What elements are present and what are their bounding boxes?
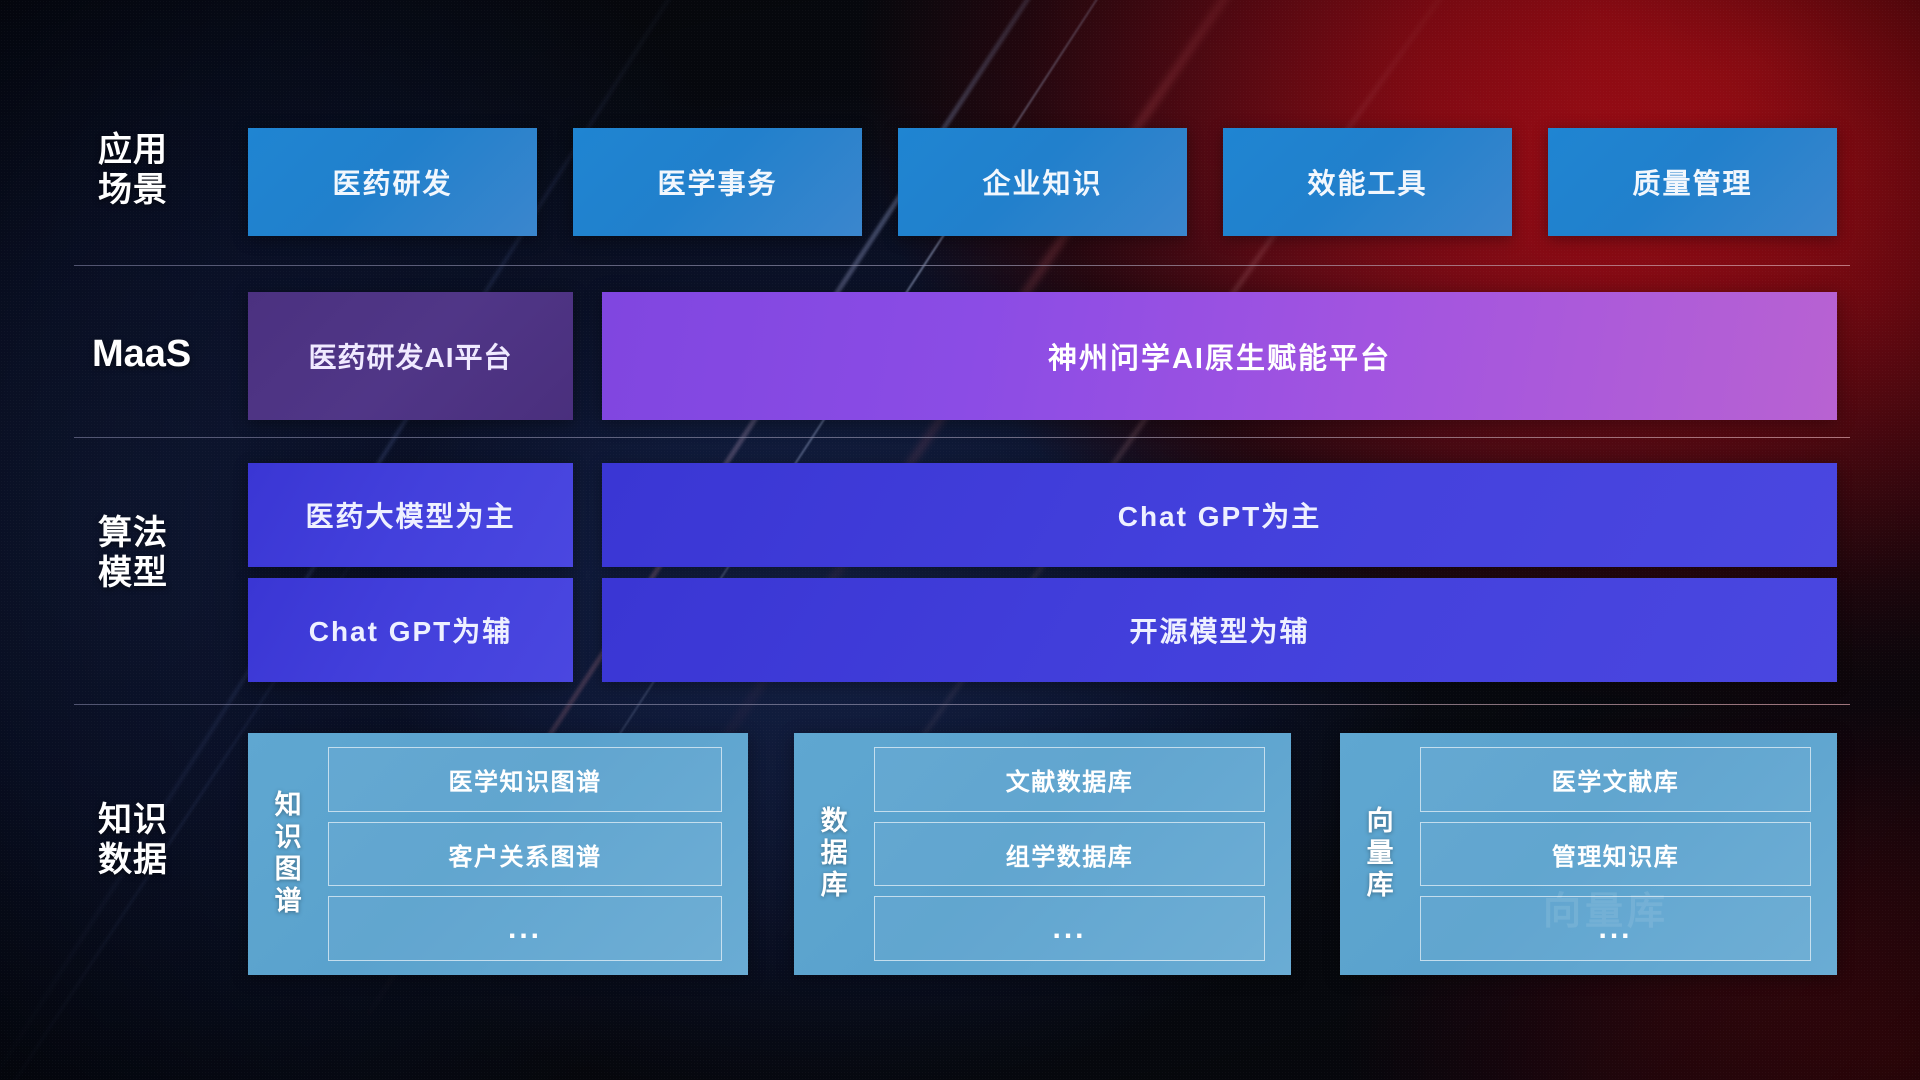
- knowledge-item[interactable]: 医学文献库: [1420, 747, 1811, 812]
- knowledge-item-more[interactable]: ...: [874, 896, 1265, 961]
- knowledge-item-label: 医学文献库: [1552, 762, 1680, 797]
- knowledge-panel-vertical-label: 向量库: [1340, 806, 1414, 902]
- knowledge-item[interactable]: 医学知识图谱: [328, 747, 722, 812]
- row-label-line: MaaS: [92, 332, 191, 377]
- app-box-efficiency-tools[interactable]: 效能工具: [1223, 128, 1512, 236]
- knowledge-item-label: 客户关系图谱: [449, 837, 602, 872]
- algo-box-label: Chat GPT为主: [1118, 495, 1322, 535]
- row-label-line: 模型: [98, 553, 168, 593]
- algo-box-label: 开源模型为辅: [1129, 610, 1309, 650]
- app-box-label: 质量管理: [1632, 162, 1752, 202]
- app-box-pharma-rd[interactable]: 医药研发: [248, 128, 537, 236]
- knowledge-panel-vector-store[interactable]: 向量库 医学文献库 管理知识库 ...: [1340, 733, 1837, 975]
- algo-box-chatgpt-secondary[interactable]: Chat GPT为辅: [248, 578, 573, 682]
- knowledge-item[interactable]: 客户关系图谱: [328, 822, 722, 887]
- knowledge-item-label: 管理知识库: [1552, 837, 1680, 872]
- app-box-quality-management[interactable]: 质量管理: [1548, 128, 1837, 236]
- maas-box-label: 神州问学AI原生赋能平台: [1048, 335, 1391, 377]
- algo-box-chatgpt-primary[interactable]: Chat GPT为主: [602, 463, 1837, 567]
- app-box-label: 效能工具: [1307, 162, 1427, 202]
- knowledge-panel-knowledge-graph[interactable]: 知识图谱 医学知识图谱 客户关系图谱 ...: [248, 733, 748, 975]
- knowledge-item-label: ...: [1052, 912, 1086, 946]
- row-label-line: 应用: [98, 130, 168, 170]
- knowledge-item[interactable]: 管理知识库: [1420, 822, 1811, 887]
- row-label-line: 算法: [98, 513, 168, 553]
- knowledge-item-label: 组学数据库: [1006, 837, 1134, 872]
- knowledge-panel-database[interactable]: 数据库 文献数据库 组学数据库 ...: [794, 733, 1291, 975]
- row-label-algorithm-models: 算法 模型: [98, 513, 168, 593]
- app-box-label: 医学事务: [657, 162, 777, 202]
- knowledge-item-more[interactable]: ...: [328, 896, 722, 961]
- knowledge-panel-vertical-label: 知识图谱: [248, 790, 322, 918]
- algo-box-label: Chat GPT为辅: [309, 610, 513, 650]
- row-label-application-scenarios: 应用 场景: [98, 130, 168, 210]
- app-box-label: 企业知识: [982, 162, 1102, 202]
- knowledge-item[interactable]: 文献数据库: [874, 747, 1265, 812]
- divider-maas-algorithm: [74, 437, 1850, 438]
- maas-box-pharma-ai-platform[interactable]: 医药研发AI平台: [248, 292, 573, 420]
- row-label-line: 场景: [98, 170, 168, 210]
- divider-algorithm-knowledge: [74, 704, 1850, 705]
- app-box-medical-affairs[interactable]: 医学事务: [573, 128, 862, 236]
- knowledge-item-label: ...: [508, 912, 542, 946]
- algo-box-opensource-secondary[interactable]: 开源模型为辅: [602, 578, 1837, 682]
- knowledge-item-label: 医学知识图谱: [449, 762, 602, 797]
- knowledge-item-label: 文献数据库: [1006, 762, 1134, 797]
- row-label-maas: MaaS: [92, 332, 191, 377]
- knowledge-item-more[interactable]: ...: [1420, 896, 1811, 961]
- algo-box-pharma-llm-primary[interactable]: 医药大模型为主: [248, 463, 573, 567]
- app-box-enterprise-knowledge[interactable]: 企业知识: [898, 128, 1187, 236]
- knowledge-item[interactable]: 组学数据库: [874, 822, 1265, 887]
- knowledge-item-list: 医学文献库 管理知识库 ...: [1414, 733, 1837, 975]
- row-label-line: 数据: [98, 840, 168, 880]
- maas-box-label: 医药研发AI平台: [308, 336, 512, 376]
- knowledge-item-list: 文献数据库 组学数据库 ...: [868, 733, 1291, 975]
- knowledge-item-label: ...: [1598, 912, 1632, 946]
- maas-box-shenzhou-wenxue-platform[interactable]: 神州问学AI原生赋能平台: [602, 292, 1837, 420]
- row-label-knowledge-data: 知识 数据: [98, 800, 168, 880]
- row-label-line: 知识: [98, 800, 168, 840]
- algo-box-label: 医药大模型为主: [305, 495, 515, 535]
- knowledge-panel-vertical-label: 数据库: [794, 806, 868, 902]
- app-box-label: 医药研发: [332, 162, 452, 202]
- divider-app-maas: [74, 265, 1850, 266]
- knowledge-item-list: 医学知识图谱 客户关系图谱 ...: [322, 733, 748, 975]
